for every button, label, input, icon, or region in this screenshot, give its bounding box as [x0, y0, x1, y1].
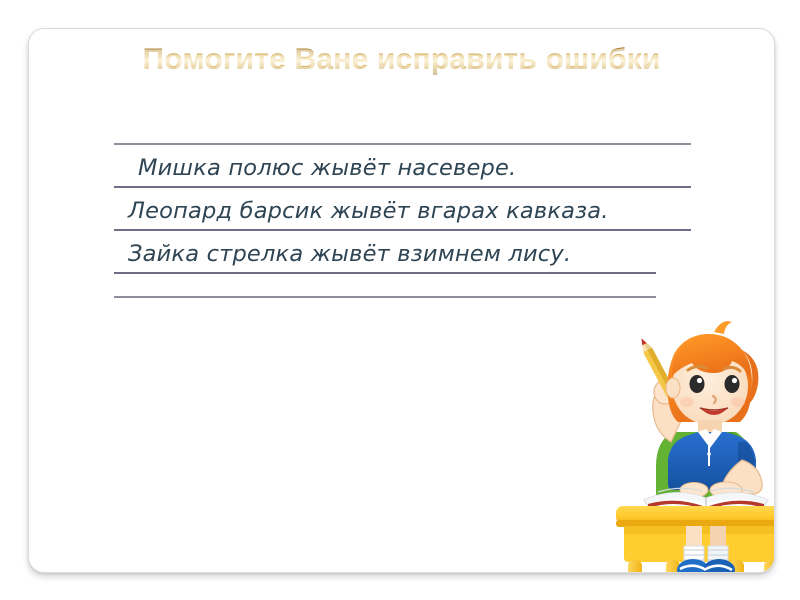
sentence-row[interactable]: Зайка стрелка жывёт взимнем лису. — [114, 231, 694, 274]
slide-card: Помогите Ване исправить ошибки Мишка пол… — [28, 28, 775, 573]
head-shape — [666, 321, 758, 425]
sentence-text: Зайка стрелка жывёт взимнем лису. — [128, 241, 571, 267]
sentence-underline — [114, 272, 656, 274]
sentence-text: Леопард барсик жывёт вгарах кавказа. — [128, 198, 609, 224]
desk-leg — [628, 560, 642, 573]
worksheet-lines: Мишка полюс жывёт насевере. Леопард барс… — [114, 143, 694, 298]
page-title: Помогите Ване исправить ошибки — [29, 43, 774, 77]
sentence-row[interactable]: Леопард барсик жывёт вгарах кавказа. — [114, 188, 694, 231]
sentence-text: Мишка полюс жывёт насевере. — [138, 155, 516, 181]
sentence-row[interactable]: Мишка полюс жывёт насевере. — [114, 145, 694, 188]
desk-leg — [764, 560, 775, 573]
boy-at-desk-illustration — [614, 314, 775, 573]
ruled-line-bottom — [114, 296, 656, 298]
